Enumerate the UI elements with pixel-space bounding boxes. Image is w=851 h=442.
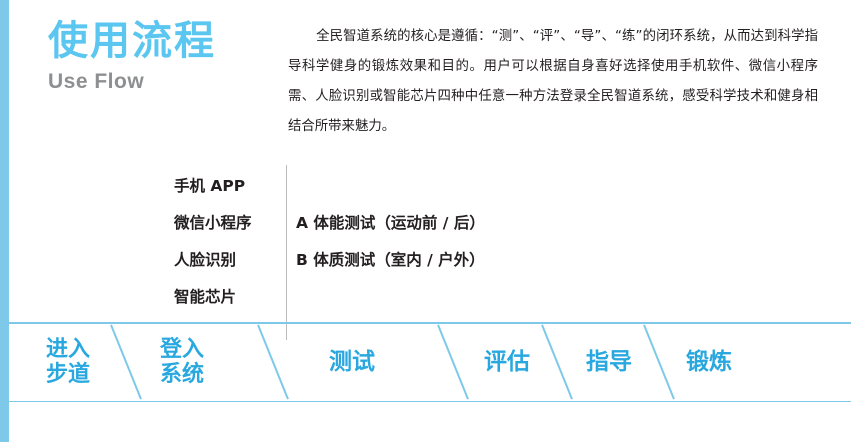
ribbon-step-guide: 指导: [586, 322, 632, 402]
list-item: B 体质测试（室内 / 户外）: [296, 242, 526, 279]
process-ribbon: 进入 步道 登入 系统 测试 评估 指导 锻炼: [0, 322, 851, 402]
list-item: 智能芯片: [174, 279, 284, 316]
ribbon-step-enter-trail: 进入 步道: [46, 322, 90, 402]
page-title-en: Use Flow: [48, 70, 288, 94]
login-methods-list: 手机 APP 微信小程序 人脸识别 智能芯片: [174, 168, 284, 316]
ribbon-separator: [643, 325, 675, 400]
step-line-1: 评估: [484, 350, 530, 375]
list-item: 手机 APP: [174, 168, 284, 205]
step-line-1: 进入: [46, 337, 90, 362]
step-line-2: 系统: [160, 362, 204, 387]
step-line-2: 步道: [46, 362, 90, 387]
ribbon-separator: [541, 325, 573, 400]
step-line-1: 锻炼: [686, 350, 732, 375]
ribbon-separator: [437, 325, 469, 400]
title-block: 使用流程 Use Flow: [48, 18, 288, 94]
step-line-1: 指导: [586, 350, 632, 375]
column-divider: [286, 165, 287, 340]
test-types-list: A 体能测试（运动前 / 后） B 体质测试（室内 / 户外）: [296, 205, 526, 279]
intro-text: 全民智道系统的核心是遵循：“测”、“评”、“导”、“练”的闭环系统，从而达到科学…: [288, 29, 818, 134]
ribbon-step-login-system: 登入 系统: [160, 322, 204, 402]
list-item: A 体能测试（运动前 / 后）: [296, 205, 526, 242]
ribbon-step-evaluate: 评估: [484, 322, 530, 402]
ribbon-separator: [110, 325, 142, 400]
step-line-1: 登入: [160, 337, 204, 362]
intro-paragraph: 全民智道系统的核心是遵循：“测”、“评”、“导”、“练”的闭环系统，从而达到科学…: [288, 22, 818, 142]
ribbon-separator: [257, 325, 289, 400]
ribbon-step-exercise: 锻炼: [686, 322, 732, 402]
page-title-cn: 使用流程: [48, 18, 288, 64]
ribbon-step-test: 测试: [329, 322, 375, 402]
list-item: 微信小程序: [174, 205, 284, 242]
flow-diagram: 手机 APP 微信小程序 人脸识别 智能芯片 A 体能测试（运动前 / 后） B…: [0, 150, 851, 350]
step-line-1: 测试: [329, 350, 375, 375]
list-item: 人脸识别: [174, 242, 284, 279]
use-flow-page: 使用流程 Use Flow 全民智道系统的核心是遵循：“测”、“评”、“导”、“…: [0, 0, 851, 442]
